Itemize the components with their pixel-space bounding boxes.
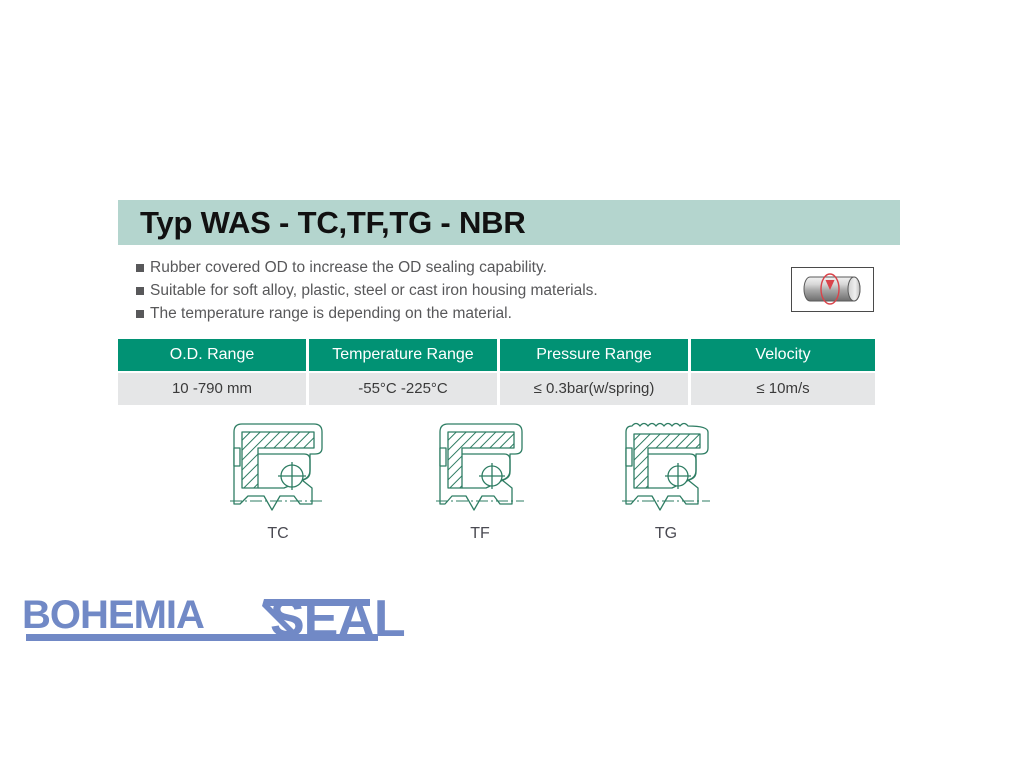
seal-figure-tg: TG xyxy=(596,418,736,543)
seal-label-tg: TG xyxy=(596,525,736,543)
feature-item: Rubber covered OD to increase the OD sea… xyxy=(136,256,736,279)
logo-text-bohemia: BOHEMIA xyxy=(22,593,204,637)
table-header-pressure-range: Pressure Range xyxy=(500,339,688,371)
seal-cross-section-tf-drawing xyxy=(430,418,530,523)
seal-gallery: TC TF xyxy=(118,418,875,553)
seal-cross-section-tg-drawing xyxy=(616,418,716,523)
table-cell-temperature-range: -55°C -225°C xyxy=(309,373,497,405)
table-header-velocity: Velocity xyxy=(691,339,875,371)
table-cell-velocity: ≤ 10m/s xyxy=(691,373,875,405)
rotating-shaft-icon-box xyxy=(791,267,874,312)
page-title: Typ WAS - TC,TF,TG - NBR xyxy=(140,205,526,241)
feature-item: The temperature range is depending on th… xyxy=(136,302,736,325)
seal-cross-section-tc-drawing xyxy=(224,418,332,523)
rotating-shaft-icon xyxy=(792,268,872,310)
table-header-od-range: O.D. Range xyxy=(118,339,306,371)
feature-item: Suitable for soft alloy, plastic, steel … xyxy=(136,279,736,302)
bullet-square-icon xyxy=(136,264,144,272)
title-band: Typ WAS - TC,TF,TG - NBR xyxy=(118,200,900,245)
feature-text: Suitable for soft alloy, plastic, steel … xyxy=(150,279,598,302)
logo-graphic: BOHEMIA SEAL xyxy=(18,586,418,650)
table-header-temperature-range: Temperature Range xyxy=(309,339,497,371)
table-cell-od-range: 10 -790 mm xyxy=(118,373,306,405)
feature-text: Rubber covered OD to increase the OD sea… xyxy=(150,256,547,279)
seal-label-tf: TF xyxy=(410,525,550,543)
bohemia-seal-logo: BOHEMIA SEAL xyxy=(18,586,418,650)
table-cell-pressure-range: ≤ 0.3bar(w/spring) xyxy=(500,373,688,405)
seal-figure-tf: TF xyxy=(410,418,550,543)
feature-list: Rubber covered OD to increase the OD sea… xyxy=(136,256,736,325)
table-data-row: 10 -790 mm -55°C -225°C ≤ 0.3bar(w/sprin… xyxy=(118,373,875,405)
table-header-row: O.D. Range Temperature Range Pressure Ra… xyxy=(118,339,875,371)
feature-text: The temperature range is depending on th… xyxy=(150,302,512,325)
bullet-square-icon xyxy=(136,287,144,295)
seal-figure-tc: TC xyxy=(208,418,348,543)
spec-table: O.D. Range Temperature Range Pressure Ra… xyxy=(118,339,875,405)
seal-label-tc: TC xyxy=(208,525,348,543)
bullet-square-icon xyxy=(136,310,144,318)
